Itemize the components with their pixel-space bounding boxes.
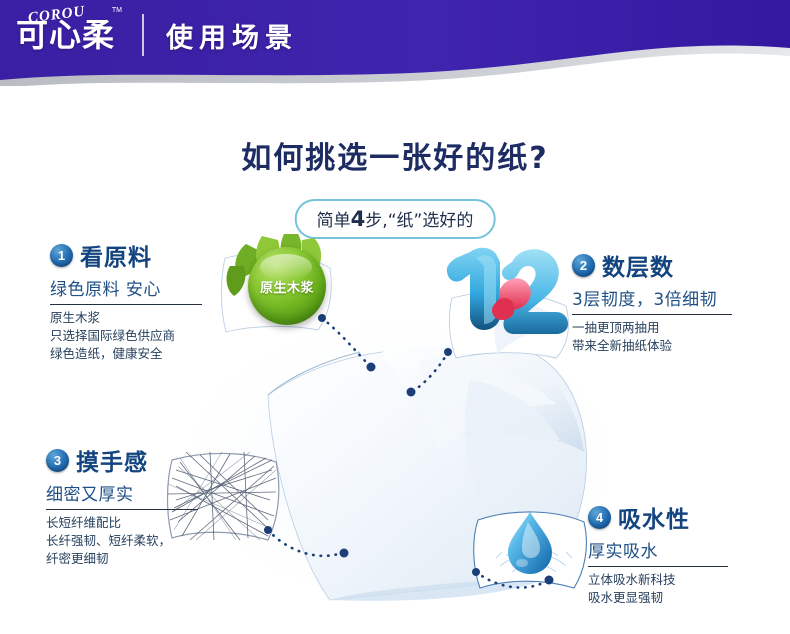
layer-number-1 <box>447 248 500 330</box>
step3-number-badge: 3 <box>46 449 69 472</box>
step4-line-1: 立体吸水新科技 <box>588 571 788 589</box>
step1-subtitle: 绿色原料 安心 <box>50 275 255 300</box>
step1-line-3: 绿色造纸，健康安全 <box>50 345 255 363</box>
step1-line-1: 原生木浆 <box>50 309 255 327</box>
step4-line-2: 吸水更显强韧 <box>588 589 788 607</box>
page-root: COROU TM 可心柔 使用场景 如何挑选一张好的纸? 简单4步,“纸”选好的 <box>0 0 790 634</box>
water-drop-icon <box>508 512 552 574</box>
pill-prefix: 简单 <box>317 211 351 231</box>
step2-tissue <box>449 292 568 358</box>
pill-number: 4 <box>351 207 366 231</box>
step1-header: 1 看原料 <box>50 238 255 272</box>
step3-header: 3 摸手感 <box>46 443 251 477</box>
step3-line-2: 长纤强韧、短纤柔软， <box>46 532 251 550</box>
step1-body: 原生木浆 只选择国际绿色供应商 绿色造纸，健康安全 <box>50 309 255 363</box>
brand-logo-cn: 可心柔 <box>16 19 115 51</box>
step3-body: 长短纤维配比 长纤强韧、短纤柔软， 纤密更细韧 <box>46 514 251 568</box>
step3-subtitle: 细密又厚实 <box>46 480 251 505</box>
step2-title: 数层数 <box>602 248 674 282</box>
step4-tissue <box>474 512 587 588</box>
step-block-2: 2 数层数 3层韧度，3倍细韧 一抽更顶两抽用 带来全新抽纸体验 <box>572 248 787 355</box>
step3-line-3: 纤密更细韧 <box>46 550 251 568</box>
step3-title: 摸手感 <box>76 443 148 477</box>
step2-header: 2 数层数 <box>572 248 787 282</box>
step3-line-1: 长短纤维配比 <box>46 514 251 532</box>
trademark-icon: TM <box>112 7 122 14</box>
step4-header: 4 吸水性 <box>588 500 788 534</box>
step1-number-badge: 1 <box>50 244 73 267</box>
pulp-badge-gloss <box>260 254 312 280</box>
step1-title: 看原料 <box>80 238 152 272</box>
brand-logo: COROU TM 可心柔 <box>14 5 124 65</box>
pulp-badge: 原生木浆 <box>248 247 326 325</box>
step2-divider <box>572 314 732 315</box>
step1-line-2: 只选择国际绿色供应商 <box>50 327 255 345</box>
banner-title: 使用场景 <box>166 16 298 55</box>
step4-title: 吸水性 <box>618 500 690 534</box>
step3-divider <box>46 509 198 510</box>
step-block-4: 4 吸水性 厚实吸水 立体吸水新科技 吸水更显强韧 <box>588 500 788 607</box>
pink-accent <box>492 278 531 320</box>
step-block-1: 1 看原料 绿色原料 安心 原生木浆 只选择国际绿色供应商 绿色造纸，健康安全 <box>50 238 255 363</box>
header-banner: COROU TM 可心柔 使用场景 <box>0 0 790 86</box>
layer-number-2 <box>502 249 568 334</box>
subtitle-pill: 简单4步,“纸”选好的 <box>295 199 496 239</box>
step1-divider <box>50 304 202 305</box>
connector-dots <box>268 318 548 588</box>
step2-number-badge: 2 <box>572 254 595 277</box>
step4-divider <box>588 566 728 567</box>
main-tissue-sheet <box>268 348 587 600</box>
step2-line-2: 带来全新抽纸体验 <box>572 337 787 355</box>
step2-subtitle: 3层韧度，3倍细韧 <box>572 285 787 310</box>
banner-divider <box>142 14 144 56</box>
pill-suffix: 步,“纸”选好的 <box>365 211 473 231</box>
step4-number-badge: 4 <box>588 506 611 529</box>
step4-subtitle: 厚实吸水 <box>588 537 788 562</box>
step2-line-1: 一抽更顶两抽用 <box>572 319 787 337</box>
connector-endpoints <box>264 314 554 585</box>
page-title: 如何挑选一张好的纸? <box>0 133 790 177</box>
step4-body: 立体吸水新科技 吸水更显强韧 <box>588 571 788 607</box>
step-block-3: 3 摸手感 细密又厚实 长短纤维配比 长纤强韧、短纤柔软， 纤密更细韧 <box>46 443 251 568</box>
step2-body: 一抽更顶两抽用 带来全新抽纸体验 <box>572 319 787 355</box>
